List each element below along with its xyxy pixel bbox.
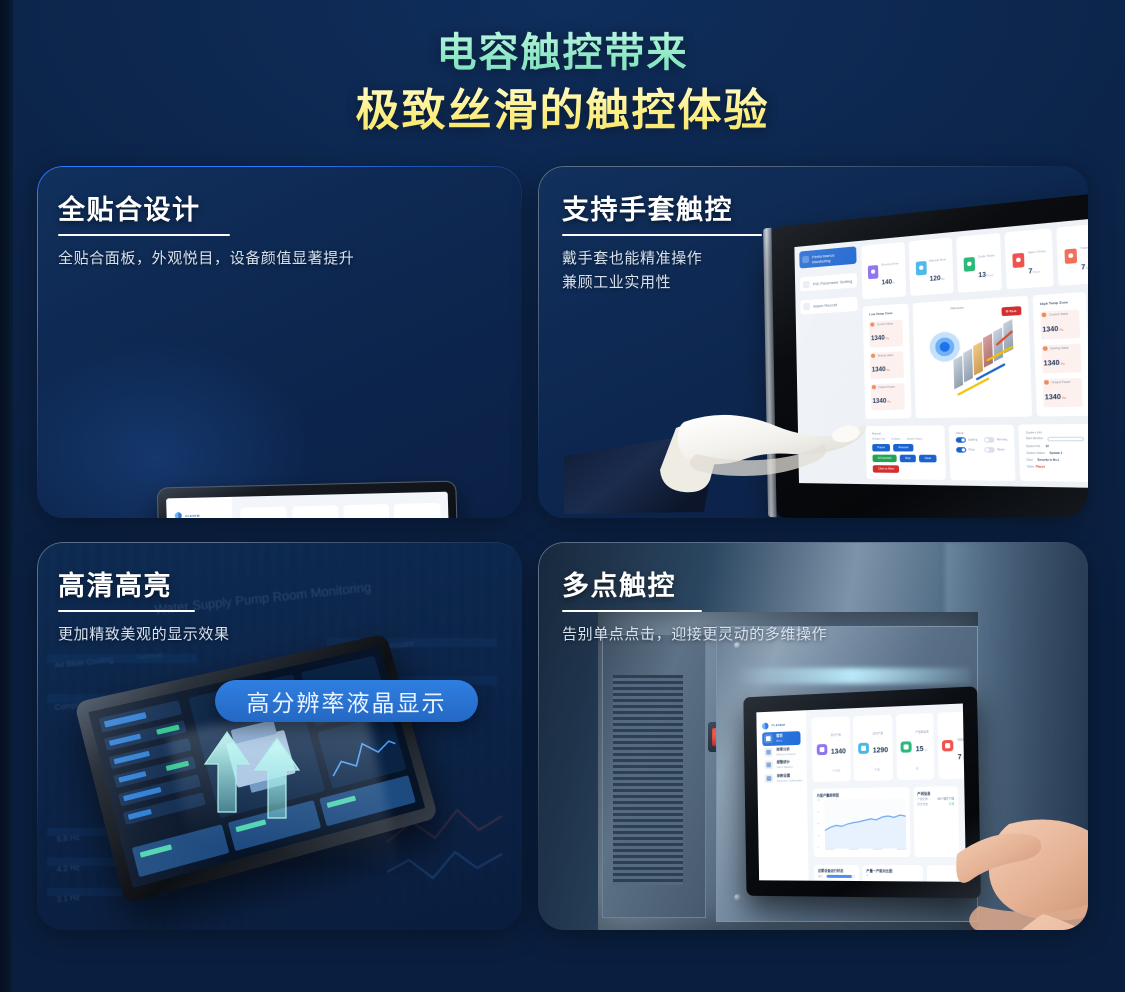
value-unit: Pa [1060, 329, 1064, 333]
card-title: 高清高亮 [58, 564, 172, 610]
info-value: System 1 [1050, 452, 1063, 455]
bar-chart-icon [764, 748, 772, 757]
monitor-screen[interactable]: Performance Monitoring PID Parameter Set… [794, 219, 1088, 488]
system-info-row: Start Number [1026, 437, 1084, 442]
dashboard-body: 总计产量1340个/小时日均产量1290个/天产线稼动率15小时待处理报警7条 … [806, 703, 966, 881]
card-title: 多点触控 [562, 564, 676, 610]
info-value: 12 [1046, 445, 1049, 448]
kpi-card: Transfer Times7Sec [1057, 223, 1088, 286]
kpi-unit: 条 [963, 757, 966, 760]
kpi-unit: Times [1032, 271, 1040, 275]
light-strip [734, 668, 970, 684]
gloved-hand-photo [564, 362, 894, 518]
switch-off-icon [984, 447, 995, 453]
switch-on-icon [956, 437, 966, 443]
x-tick: 2021/11/12 [825, 849, 835, 854]
nav-label-en: Parameter Configuration [777, 779, 800, 782]
status-bar-row: 待机 [818, 880, 855, 882]
page-left-edge [0, 0, 13, 992]
panel-title: High Temp Zone [1040, 299, 1079, 306]
kpi-unit: 小时 [916, 748, 927, 770]
tablet-device-front[interactable]: FLEXEM 首页 Menu [157, 481, 461, 518]
donut-panel: 75% [927, 865, 961, 882]
card-title: 全贴合设计 [58, 188, 201, 234]
toggle-label: Reset [997, 448, 1004, 451]
panel-title: 产量一产能对比图 [866, 868, 919, 873]
donut-chart: 75% [931, 869, 957, 882]
badge-label: 高分辨率液晶显示 [247, 684, 447, 718]
dashboard-body: 总计产量 1340个/小时 日均产量 1290个/天 [232, 492, 452, 518]
cabinet-right-door[interactable] [716, 626, 978, 922]
stop-button[interactable]: Stop [900, 454, 916, 462]
state-label: State: [1027, 465, 1035, 468]
emergency-stop-button[interactable] [712, 728, 728, 746]
feature-card-glove-touch[interactable]: Performance Monitoring PID Parameter Set… [538, 166, 1088, 518]
line-chart: 1007550250 2021/11/ [817, 799, 907, 854]
process-row: Low Temp Zone Current Value 1340Pa Setti… [863, 292, 1088, 419]
nav-label-cn: 首页 [776, 734, 783, 739]
sidebar-item-efficiency[interactable]: 效率分析 Efficiency Analysis [763, 745, 801, 759]
kpi-value: 140 [882, 280, 893, 287]
high-temp-zone-panel: High Temp Zone Current Value 1340Pa Sett… [1032, 292, 1088, 416]
card-subtitle-line-2: 兼顾工业实用性 [562, 271, 762, 294]
title-underline [58, 234, 230, 236]
nav-label-en: Menu [776, 740, 783, 743]
svg-text:Air Blow Cooling: Air Blow Cooling [54, 655, 113, 670]
industrial-monitor[interactable]: Performance Monitoring PID Parameter Set… [771, 191, 1088, 518]
panel-title: 产线信息 [917, 790, 954, 796]
kpi-row: 总计产量 1340个/小时 日均产量 1290个/天 [241, 503, 442, 518]
status-bar-fill [826, 881, 840, 882]
isometric-machine-graphic [951, 313, 1027, 404]
process-diagram[interactable]: Diameter R-Test [912, 296, 1032, 418]
value-card: Output Power 1340Pa [871, 383, 905, 410]
status-bar-list: 运行待机报警停机保养离线 [818, 874, 856, 882]
tab-label: PID Parameter Setting [813, 278, 853, 286]
value-card: Setting Value 1340Pa [870, 351, 904, 379]
status-bar-label: 运行 [818, 874, 823, 878]
kpi-icon [868, 265, 879, 279]
panel-screen[interactable]: FLEXEM 首页 Menu [756, 703, 966, 881]
value-number: 1340 [1043, 361, 1059, 368]
upward-arrow-icon [253, 736, 301, 820]
brand-name: FLEXEM [185, 513, 200, 517]
sidebar-nav[interactable]: 首页 Menu 效率分析 Efficiency Analysis [763, 731, 801, 785]
value-label: Current Value [871, 321, 901, 327]
column-label: Supply Output [907, 438, 923, 440]
upward-arrow-icon [203, 730, 251, 814]
kpi-card: 待处理报警 7条 [394, 503, 441, 518]
line-chart-panel: 月度产量趋势图 1007550250 [813, 787, 911, 858]
switch-off-icon [984, 437, 995, 443]
card-subtitle: 更加精致美观的显示效果 [58, 623, 230, 646]
column-label: Exhaust [891, 438, 900, 440]
tab-pid-parameter-setting[interactable]: PID Parameter Setting [800, 273, 857, 291]
kpi-icon [1065, 248, 1078, 264]
svg-text:5.8 Hz: 5.8 Hz [56, 833, 80, 844]
value-card: Current Value 1340Pa [869, 319, 903, 347]
home-icon [764, 734, 772, 743]
low-temp-zone-panel: Low Temp Zone Current Value 1340Pa Setti… [863, 304, 911, 419]
alarm-icon [764, 761, 772, 770]
sidebar-item-menu[interactable]: 首页 Menu [763, 731, 801, 745]
machine-state: State: Pause [1027, 465, 1085, 469]
kpi-card: Alarm Times7Times [1005, 229, 1054, 290]
kpi-icon [858, 743, 869, 754]
toggle-lighting[interactable]: Lighting [956, 437, 978, 443]
hmi-dashboard-cn[interactable]: FLEXEM 首页 Menu [166, 492, 451, 518]
nav-label-cn: 效率分析 [776, 747, 795, 752]
charts-row-2: 近期设备运行状态 运行待机报警停机保养离线 产量一产能对比图 806040200… [814, 864, 960, 881]
sidebar-item-alarm[interactable]: 报警统计 Alarm Statistics [763, 758, 801, 772]
kpi-label: 待处理报警 [957, 738, 966, 742]
nav-label-en: Alarm Statistics [777, 766, 793, 769]
headline-line-1: 电容触控带来 [0, 30, 1125, 77]
kpi-value: 13 [978, 273, 986, 280]
kpi-card: 日均产量 1290个/天 [292, 506, 340, 518]
kpi-value: 1340 [831, 748, 846, 755]
system-info-row: Door Security is No.1 [1027, 458, 1085, 462]
kpi-value: 15 [916, 746, 924, 753]
panel-title: 月度产量趋势图 [817, 791, 906, 798]
hmi-tab-column[interactable]: Performance Monitoring PID Parameter Set… [800, 247, 862, 479]
screen-glare [756, 703, 966, 881]
kpi-label: Alarm Times [1028, 250, 1046, 255]
value-label: Setting Value [871, 353, 902, 358]
kpi-label: Transfer Times [1080, 246, 1088, 251]
tab-label: Alarm Record [813, 303, 837, 310]
info-value: SMT 贴片产线 [937, 796, 954, 800]
svg-text:3.1 Hz: 3.1 Hz [56, 893, 80, 904]
toggle-running[interactable]: Running [984, 437, 1007, 443]
monitor-bezel [771, 191, 1088, 518]
svg-text:Normal: Normal [136, 650, 163, 662]
value-label: Setting Value [1043, 345, 1079, 351]
card-subtitle: 告别单点点击，迎接更灵动的多维操作 [562, 623, 827, 646]
plot-area [825, 799, 907, 849]
kpi-label: Running Time [881, 263, 898, 268]
kpi-card: 日均产量1290个/天 [853, 715, 893, 781]
monitor-side-frame [763, 228, 777, 518]
card-header: 高清高亮 更加精致美观的显示效果 [58, 564, 230, 647]
hmi-dashboard-en[interactable]: Performance Monitoring PID Parameter Set… [794, 219, 1088, 488]
status-bar-track [826, 875, 855, 878]
value-unit: Pa [887, 401, 890, 404]
tab-label: Performance Monitoring [812, 251, 853, 265]
kpi-unit: Hr [892, 282, 895, 285]
dashboard-sidebar: FLEXEM 首页 Menu [166, 497, 235, 518]
x-axis: 2021/11/12 2022/01/12 2022/03/12 2022/05… [825, 849, 906, 854]
info-value: Security is No.1 [1037, 458, 1059, 462]
kpi-icon [963, 257, 975, 272]
kpi-icon [942, 740, 953, 752]
x-tick: 2022/01/12 [849, 849, 859, 854]
kpi-card: Running Time140Hr [861, 242, 905, 299]
toggle-label: Running [997, 438, 1007, 441]
panel-title: 近期设备运行状态 [818, 868, 855, 873]
kpi-value: 7 [957, 754, 961, 761]
feature-card-full-lamination[interactable]: 全贴合设计 全贴合面板，外观悦目，设备颜值显著提升 FLEXEM [37, 166, 522, 518]
product-feature-page: 电容触控带来 极致丝滑的触控体验 全贴合设计 全贴合面板，外观悦目，设备颜值显著… [0, 0, 1125, 992]
feature-card-multi-touch[interactable]: FLEXEM 首页 Menu [538, 542, 1088, 930]
status-bars-panel: 近期设备运行状态 运行待机报警停机保养离线 [814, 864, 859, 881]
kpi-card: 待处理报警7条 [937, 712, 966, 779]
button-housing [708, 722, 732, 752]
manual-buttons[interactable]: Pause Resume All Interlock Stop Clear Cl… [872, 443, 939, 472]
gear-icon [765, 774, 773, 783]
kpi-icon [915, 261, 926, 276]
value-card: Output Power 1340Pa [1043, 378, 1083, 408]
kpi-unit: Sec [1085, 267, 1088, 271]
info-key: 产线名称 [917, 796, 928, 800]
y-axis: 806040200 [866, 875, 871, 882]
kpi-unit: 个/小时 [832, 769, 840, 772]
panel-bezel [743, 686, 981, 898]
kpi-row: 总计产量1340个/小时日均产量1290个/天产线稼动率15小时待处理报警7条 [812, 712, 958, 781]
card-header: 多点触控 告别单点点击，迎接更灵动的多维操作 [562, 564, 827, 647]
value-label: Current Value [1042, 311, 1078, 318]
nav-label-cn: 参数设置 [777, 773, 800, 778]
cabinet-body [598, 612, 978, 930]
kpi-value: 7 [1081, 265, 1085, 272]
nav-label-cn: 报警统计 [777, 760, 793, 765]
tab-performance-monitoring[interactable]: Performance Monitoring [800, 247, 857, 269]
brand-logo: FLEXEM [762, 721, 800, 729]
logo-mark-icon [175, 512, 182, 518]
tablet-screen[interactable]: FLEXEM 首页 Menu [166, 492, 451, 518]
clear-to-allow-button[interactable]: Clear to Allow [873, 465, 900, 473]
screen-glare [794, 219, 1088, 488]
touch-ripple [929, 330, 962, 363]
toggle-grid[interactable]: Lighting Chop Running Reset [956, 437, 1008, 453]
controls-row[interactable]: Manual Primary Fan Exhaust Supply Output… [866, 423, 1088, 481]
value-number: 1340 [871, 336, 885, 343]
headline-line-2: 极致丝滑的触控体验 [0, 85, 1125, 137]
monitor-icon [803, 256, 810, 264]
pause-button[interactable]: Pause [872, 444, 890, 451]
value-number: 1340 [872, 367, 886, 374]
state-value: Pause [1036, 465, 1045, 468]
kpi-unit: Min [941, 278, 945, 282]
card-subtitle-line-1: 戴手套也能精准操作 [562, 247, 762, 270]
cabinet-left-door[interactable] [602, 634, 706, 918]
charts-row-1: 月度产量趋势图 1007550250 [813, 786, 959, 858]
x-tick: 2022/05/12 [897, 849, 907, 854]
dashboard-sidebar: FLEXEM 首页 Menu [756, 710, 808, 880]
status-badge: R-Test [1001, 306, 1021, 316]
manual-control-group[interactable]: Manual Primary Fan Exhaust Supply Output… [866, 425, 946, 480]
system-info-row: System No. 12 [1026, 445, 1084, 448]
value-card: Current Value 1340Pa [1040, 309, 1080, 339]
kpi-row: Running Time140HrManual Time120MinCycle … [861, 226, 1085, 300]
value-number: 1340 [1045, 395, 1061, 402]
title-underline [562, 234, 762, 236]
bars-area [871, 875, 920, 882]
x-tick: 2022/03/12 [873, 849, 883, 854]
kpi-card: 总计产量 1340个/小时 [241, 507, 289, 518]
value-number: 1340 [1042, 327, 1058, 335]
diagram-label: Diameter [950, 306, 964, 311]
sliders-icon [803, 280, 810, 288]
title-underline [58, 610, 195, 612]
value-unit: Pa [887, 369, 890, 372]
brand-logo: FLEXEM [175, 511, 224, 518]
kpi-label: Manual Time [929, 259, 946, 264]
card-subtitle: 全贴合面板，外观悦目，设备颜值显著提升 [58, 247, 354, 270]
toggle-label: Chop [968, 448, 975, 451]
info-value: 正常 [949, 801, 954, 805]
kpi-card: Manual Time120Min [908, 238, 953, 296]
info-key: Door [1027, 458, 1033, 461]
kpi-label: 产线稼动率 [915, 730, 929, 734]
title-underline [562, 610, 702, 612]
start-number-input[interactable] [1048, 437, 1084, 442]
system-info-panel: System Info Start Number System No. 12 [1018, 423, 1088, 481]
svg-text:4.2 Hz: 4.2 Hz [56, 863, 80, 874]
toggle-reset[interactable]: Reset [984, 447, 1007, 453]
kpi-card: 产线稼动率 15小时 [343, 504, 391, 518]
group-title: Manual [872, 431, 938, 435]
panel-title: Low Temp Zone [869, 310, 902, 316]
mounted-hmi-panel[interactable]: FLEXEM 首页 Menu [743, 686, 981, 898]
status-bar-track [826, 881, 855, 882]
info-key: System No. [1026, 445, 1041, 448]
info-key: Start Number [1026, 437, 1043, 442]
resume-button[interactable]: Resume [893, 444, 914, 452]
kpi-value: 7 [1028, 269, 1032, 276]
bell-icon [803, 303, 810, 310]
value-label: Output Power [872, 385, 903, 390]
value-unit: Pa [886, 338, 889, 341]
logo-mark-icon [762, 722, 769, 729]
grouped-bar-chart: 806040200 周一周二周三周四周五周六周日 [866, 875, 919, 882]
card-header: 支持手套触控 戴手套也能精准操作 兼顾工业实用性 [562, 188, 762, 294]
value-label: Output Power [1044, 379, 1080, 385]
nav-label-en: Efficiency Analysis [776, 753, 795, 757]
kpi-card: 总计产量1340个/小时 [812, 717, 851, 782]
kpi-value: 1290 [873, 747, 888, 755]
grouped-bar-panel: 产量一产能对比图 806040200 周一周二周三周四周五周六周日 [862, 865, 923, 882]
corridor-blur [945, 542, 1088, 930]
status-bar-label: 待机 [818, 880, 823, 882]
kpi-icon [900, 741, 911, 752]
kpi-card: 产线稼动率15小时 [896, 713, 935, 779]
screw-icon [734, 894, 741, 901]
brand-name: FLEXEM [772, 723, 785, 727]
kpi-icon [816, 744, 827, 755]
kpi-label: 日均产量 [872, 732, 883, 735]
value-card: Setting Value 1340Pa [1041, 343, 1081, 373]
status-bar-fill [826, 875, 851, 878]
kpi-label: Cycle Times [978, 255, 995, 260]
clear-button[interactable]: Clear [919, 454, 937, 462]
sidebar-item-parameters[interactable]: 参数设置 Parameter Configuration [763, 771, 801, 785]
value-unit: Pa [1061, 363, 1065, 367]
system-info-row: System Status System 1 [1026, 451, 1084, 455]
group-title: System Info [1026, 430, 1084, 434]
kpi-icon [1013, 253, 1025, 268]
value-number: 1340 [872, 399, 886, 406]
clamp-control-group[interactable]: Clamp Lighting Chop Running Re [949, 424, 1016, 480]
info-key: System Status [1026, 451, 1045, 454]
page-title: 电容触控带来 极致丝滑的触控体验 [0, 30, 1125, 137]
feature-card-hd-bright[interactable]: Water Supply Pump Room Monitoring Air Bl… [37, 542, 522, 930]
column-label: Primary Fan [872, 438, 885, 440]
toggle-label: Lighting [968, 438, 978, 441]
value-unit: Pa [1062, 397, 1066, 400]
switch-on-icon [956, 447, 966, 453]
y-axis: 1007550250 [817, 800, 825, 849]
card-header: 全贴合设计 全贴合面板，外观悦目，设备颜值显著提升 [58, 188, 354, 271]
card-title: 支持手套触控 [562, 188, 733, 234]
kpi-card: Cycle Times13Times [956, 233, 1002, 293]
group-title: Clamp [955, 431, 1007, 435]
tab-alarm-record[interactable]: Alarm Record [801, 297, 858, 315]
hmi-dashboard-cn[interactable]: FLEXEM 首页 Menu [756, 703, 966, 881]
toggle-chop[interactable]: Chop [956, 447, 978, 453]
kpi-label: 总计产量 [831, 733, 841, 736]
kpi-value: 120 [930, 276, 941, 283]
cabinet-vents [613, 675, 683, 885]
line-info-panel: 产线信息 产线名称SMT 贴片产线 机台状态正常 [913, 786, 959, 858]
hmi-main-column: Running Time140HrManual Time120MinCycle … [861, 226, 1088, 482]
kpi-unit: Times [986, 274, 993, 278]
resolution-badge: 高分辨率液晶显示 [215, 680, 478, 722]
pinching-hand-photo [883, 810, 1088, 930]
info-key: 机台状态 [917, 801, 928, 805]
kpi-unit: 个/天 [874, 768, 880, 771]
all-interlock-button[interactable]: All Interlock [872, 454, 896, 462]
status-bar-row: 运行 [818, 874, 855, 878]
